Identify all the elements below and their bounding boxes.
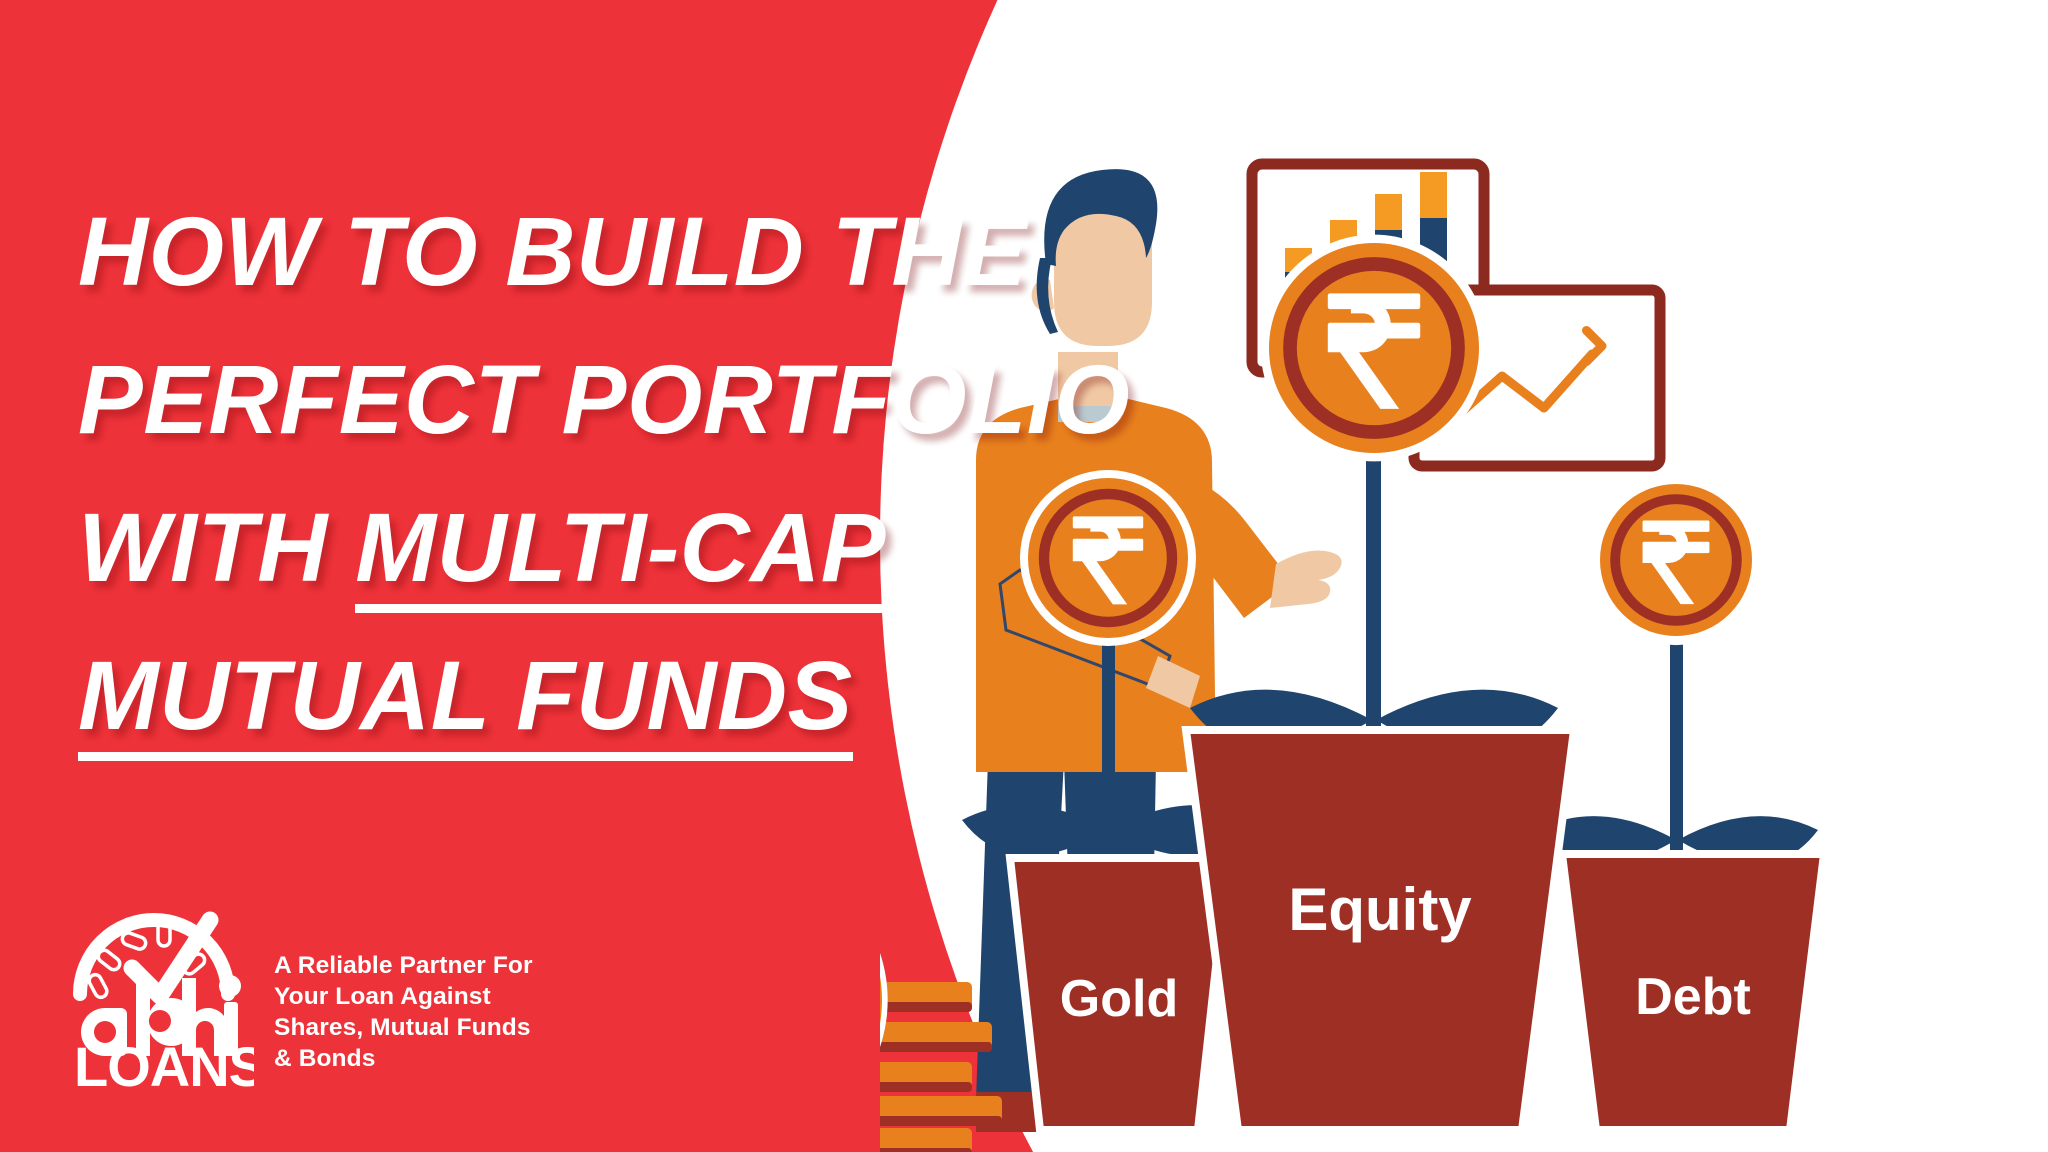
headline-line-4: MUTUAL FUNDS xyxy=(78,622,1158,770)
pot-label-gold: Gold xyxy=(1060,970,1178,1028)
pot-label-debt: Debt xyxy=(1635,968,1751,1026)
pot-label-equity: Equity xyxy=(1288,876,1472,943)
headline-line-1: HOW TO BUILD THE xyxy=(78,178,1158,326)
tagline-line-2: Your Loan Against xyxy=(274,981,533,1012)
headline-line-4-emphasis: MUTUAL FUNDS xyxy=(78,647,853,761)
svg-text:LOANS: LOANS xyxy=(74,1035,254,1090)
pot-gold: Gold xyxy=(1010,858,1228,1130)
pot-equity: Equity xyxy=(1186,730,1574,1130)
pot-debt: Debt xyxy=(1562,854,1824,1130)
marketing-banner: HOW TO BUILD THE PERFECT PORTFOLIO WITH … xyxy=(0,0,2048,1152)
tagline-line-1: A Reliable Partner For xyxy=(274,950,533,981)
tagline-line-4: & Bonds xyxy=(274,1043,533,1074)
headline-line-3: WITH MULTI-CAP xyxy=(78,474,1158,622)
tagline-line-3: Shares, Mutual Funds xyxy=(274,1012,533,1043)
page-title: HOW TO BUILD THE PERFECT PORTFOLIO WITH … xyxy=(78,178,1158,770)
abhi-loans-logo-icon: LOANS xyxy=(72,890,254,1090)
headline-line-3-emphasis: MULTI-CAP xyxy=(355,499,886,613)
headline-line-3-plain: WITH xyxy=(78,493,355,602)
headline-line-2: PERFECT PORTFOLIO xyxy=(78,326,1158,474)
brand-logo-lockup[interactable]: LOANS A Reliable Partner For Your Loan A… xyxy=(72,890,533,1090)
brand-tagline: A Reliable Partner For Your Loan Against… xyxy=(274,950,533,1074)
